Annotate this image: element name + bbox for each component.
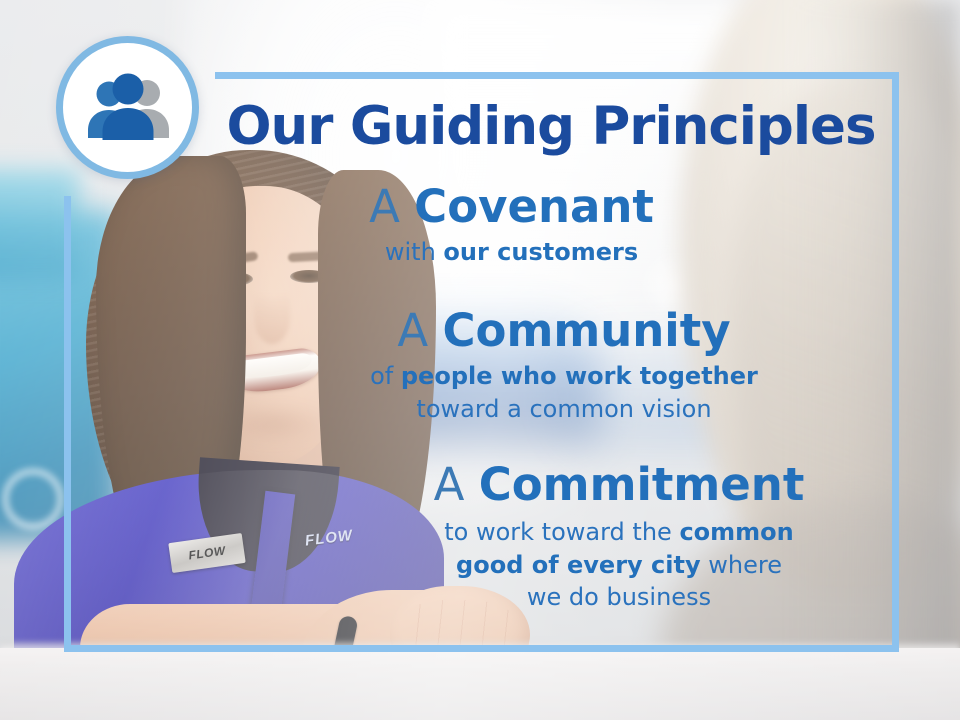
- principle-covenant-sub-pre: with: [385, 238, 444, 266]
- principle-community-keyword: Community: [443, 304, 731, 357]
- principle-commitment-keyword: Commitment: [479, 458, 805, 511]
- principle-commitment-sub-line3: we do business: [339, 581, 899, 613]
- principle-covenant-subtext: with our customers: [124, 236, 899, 268]
- principle-commitment-sub-line2: good of every city where: [339, 549, 899, 581]
- principle-commitment-sub-line2-post: where: [701, 551, 782, 579]
- principle-commitment-sub-bold: common: [679, 518, 793, 546]
- principle-commitment-subtext: to work toward the common good of every …: [339, 516, 899, 612]
- principle-covenant-article: A: [369, 180, 414, 233]
- principle-community-sub-pre: of: [370, 362, 401, 390]
- principle-community-subtext: of people who work together toward a com…: [229, 360, 899, 424]
- principle-commitment-sub-pre: to work toward the: [444, 518, 679, 546]
- principle-community-heading: A Community: [229, 308, 899, 354]
- principle-community-sub-line2: toward a common vision: [229, 393, 899, 425]
- text-content: Our Guiding Principles A Covenant with o…: [64, 72, 899, 652]
- principle-covenant-keyword: Covenant: [414, 180, 654, 233]
- principle-community-article: A: [397, 304, 442, 357]
- principle-covenant: A Covenant with our customers: [64, 184, 899, 269]
- principle-covenant-sub-bold: our customers: [443, 238, 638, 266]
- principle-commitment: A Commitment to work toward the common g…: [64, 462, 899, 613]
- principle-community-sub-bold: people who work together: [401, 362, 758, 390]
- principle-community: A Community of people who work together …: [64, 308, 899, 425]
- guiding-principles-graphic: FLOW FLOW: [0, 0, 960, 720]
- principle-community-sub-line1: of people who work together: [229, 360, 899, 392]
- principle-commitment-article: A: [434, 458, 479, 511]
- principle-covenant-heading: A Covenant: [124, 184, 899, 230]
- principle-commitment-sub-line1: to work toward the common: [339, 516, 899, 548]
- principle-commitment-sub-line2-bold: good of every city: [456, 551, 701, 579]
- principle-commitment-heading: A Commitment: [339, 462, 899, 508]
- page-title: Our Guiding Principles: [216, 100, 886, 153]
